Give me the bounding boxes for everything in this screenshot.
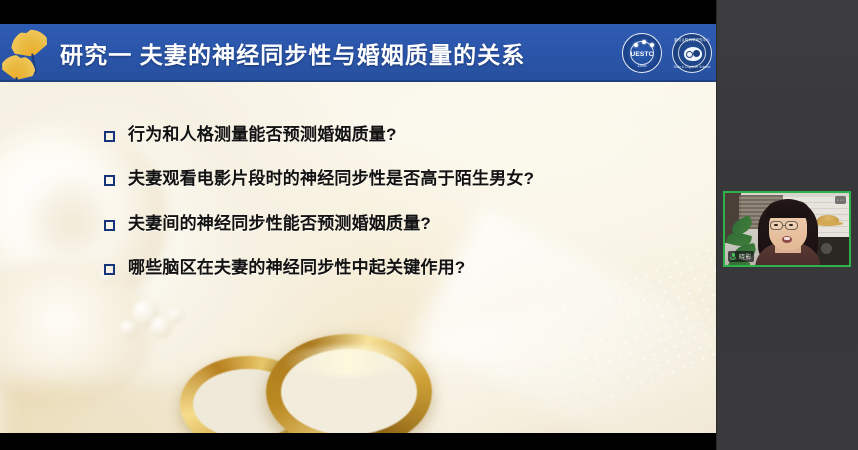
meeting-screen: 行为和人格测量能否预测婚姻质量? 夫妻观看电影片段时的神经同步性是否高于陌生男女… — [0, 0, 858, 450]
uestc-logo-year: 1956 — [623, 63, 661, 68]
list-item: 行为和人格测量能否预测婚姻质量? — [104, 124, 684, 146]
straw-hat — [817, 215, 839, 226]
institute-logo: 脑与认知科学研究中心 Brain & Cognitive Science — [672, 33, 712, 73]
presentation-slide: 行为和人格测量能否预测婚姻质量? 夫妻观看电影片段时的神经同步性是否高于陌生男女… — [0, 24, 716, 433]
microphone-icon[interactable] — [729, 253, 737, 261]
list-item-label: 行为和人格测量能否预测婚姻质量? — [128, 124, 397, 146]
list-item: 哪些脑区在夫妻的神经同步性中起关键作用? — [104, 257, 684, 279]
bullet-list: 行为和人格测量能否预测婚姻质量? 夫妻观看电影片段时的神经同步性是否高于陌生男女… — [104, 124, 684, 302]
tile-more-options-button[interactable]: ··· — [835, 196, 846, 204]
page-title: 研究一 夫妻的神经同步性与婚姻质量的关系 — [60, 24, 525, 82]
uestc-logo-text: UESTC — [623, 51, 661, 58]
participant-name-badge: 晓影 — [728, 251, 754, 262]
square-bullet-icon — [104, 131, 115, 142]
tile-more-options-label: ··· — [836, 197, 844, 204]
shared-screen-stage: 行为和人格测量能否预测婚姻质量? 夫妻观看电影片段时的神经同步性是否高于陌生男女… — [0, 0, 716, 450]
participant-video-tile[interactable]: 晓影 ··· — [723, 191, 851, 267]
pearl — [120, 320, 137, 337]
wedding-rings — [178, 330, 438, 433]
participant-name-label: 晓影 — [739, 252, 751, 261]
pearl — [168, 308, 183, 323]
mouth — [782, 236, 792, 243]
list-item: 夫妻观看电影片段时的神经同步性是否高于陌生男女? — [104, 168, 684, 190]
brain-icon — [684, 47, 702, 61]
square-bullet-icon — [104, 220, 115, 231]
list-item: 夫妻间的神经同步性能否预测婚姻质量? — [104, 213, 684, 235]
desk-object — [821, 243, 832, 254]
ring-highlight — [282, 346, 414, 376]
participant-fringe — [766, 201, 810, 218]
list-item-label: 哪些脑区在夫妻的神经同步性中起关键作用? — [128, 257, 465, 279]
institute-logo-arc-bottom: Brain & Cognitive Science — [673, 65, 711, 69]
participant-sidebar[interactable]: 晓影 ··· — [716, 0, 858, 450]
list-item-label: 夫妻观看电影片段时的神经同步性是否高于陌生男女? — [128, 168, 534, 190]
uestc-logo: UESTC 1956 — [622, 33, 662, 73]
square-bullet-icon — [104, 175, 115, 186]
sidebar-divider — [716, 0, 717, 450]
eyeglass-bridge — [783, 225, 786, 226]
square-bullet-icon — [104, 264, 115, 275]
institute-logo-arc-top: 脑与认知科学研究中心 — [673, 37, 711, 42]
list-item-label: 夫妻间的神经同步性能否预测婚姻质量? — [128, 213, 431, 235]
slide-title-banner: 研究一 夫妻的神经同步性与婚姻质量的关系 UESTC 1956 脑与认知科学研究… — [0, 24, 716, 82]
